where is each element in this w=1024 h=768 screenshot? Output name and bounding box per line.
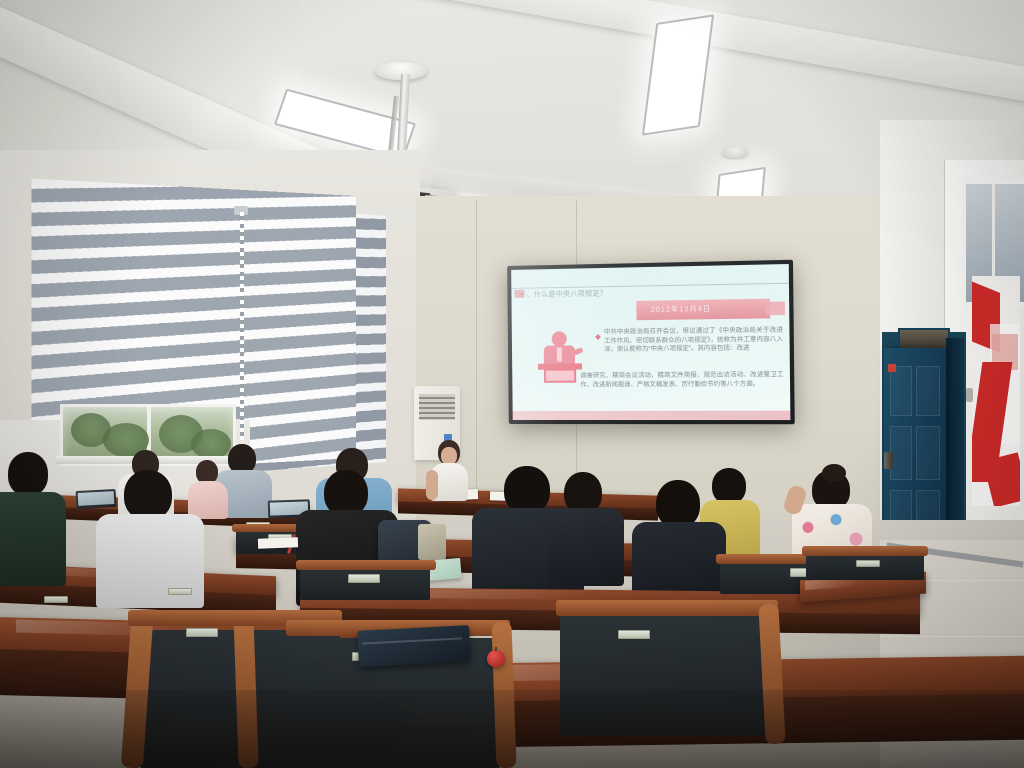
seat-back-row-4 bbox=[560, 616, 770, 736]
slide-divider bbox=[511, 283, 789, 289]
tote-bag bbox=[418, 524, 446, 560]
person-attendee-10 bbox=[548, 472, 622, 582]
slide-date-text: 2012年12月4日 bbox=[651, 304, 712, 315]
door-sticker-icon bbox=[888, 364, 896, 372]
red-apple bbox=[487, 650, 505, 667]
person-attendee-1 bbox=[0, 452, 64, 582]
seat-number-plate bbox=[348, 574, 380, 583]
smoke-detector-icon bbox=[722, 146, 748, 158]
blind-chain-pull[interactable] bbox=[240, 212, 244, 440]
slide-bullet-icon bbox=[595, 334, 601, 340]
seat-number-plate bbox=[856, 560, 880, 567]
person-attendee-3 bbox=[96, 470, 202, 604]
seat-rail-right bbox=[802, 546, 928, 556]
slide-body-text-2: 调查研究、精简会议活动、精简文件简报、规范出访活动、改进警卫工作、改进新闻报道、… bbox=[580, 371, 784, 390]
seat-back-row-3 bbox=[300, 566, 430, 600]
door-handle[interactable] bbox=[884, 452, 893, 469]
wall-poster bbox=[972, 276, 1020, 506]
apple-stem bbox=[495, 647, 497, 651]
door-transom-window bbox=[898, 328, 950, 350]
podium-speaker-icon bbox=[538, 331, 583, 384]
slide-date-ribbon: 2012年12月4日 bbox=[636, 299, 770, 321]
wall-latch bbox=[966, 388, 973, 402]
seat-number-plate bbox=[618, 630, 650, 639]
seat-number-plate bbox=[44, 596, 68, 603]
slide-footer-bar bbox=[513, 411, 791, 420]
slide-body-text-1: 中共中央政治局召开会议，审议通过了《中央政治局关于改进工作作风、密切联系群众的八… bbox=[604, 326, 783, 354]
presentation-slide: 一、什么是中央八项规定？ 2012年12月4日 中共中央政治局召开会议，审议通过… bbox=[511, 264, 790, 420]
projection-screen[interactable]: 一、什么是中央八项规定？ 2012年12月4日 中共中央政治局召开会议，审议通过… bbox=[507, 260, 795, 424]
seat-number-plate bbox=[186, 628, 218, 637]
seat-number-plate bbox=[168, 588, 192, 595]
seat-rail-row-3 bbox=[296, 560, 436, 570]
arm bbox=[426, 470, 438, 500]
classroom-photo: 一、什么是中央八项规定？ 2012年12月4日 中共中央政治局召开会议，审议通过… bbox=[0, 0, 1024, 768]
person-presenter bbox=[428, 440, 470, 502]
papers bbox=[258, 537, 298, 548]
seat-rail-row-4 bbox=[556, 600, 778, 616]
slide-heading: 一、什么是中央八项规定？ bbox=[519, 288, 607, 300]
laptop-bag bbox=[357, 625, 471, 667]
air-conditioner-grill bbox=[419, 394, 455, 420]
screen-bezel: 一、什么是中央八项规定？ 2012年12月4日 中共中央政治局召开会议，审议通过… bbox=[507, 260, 795, 424]
